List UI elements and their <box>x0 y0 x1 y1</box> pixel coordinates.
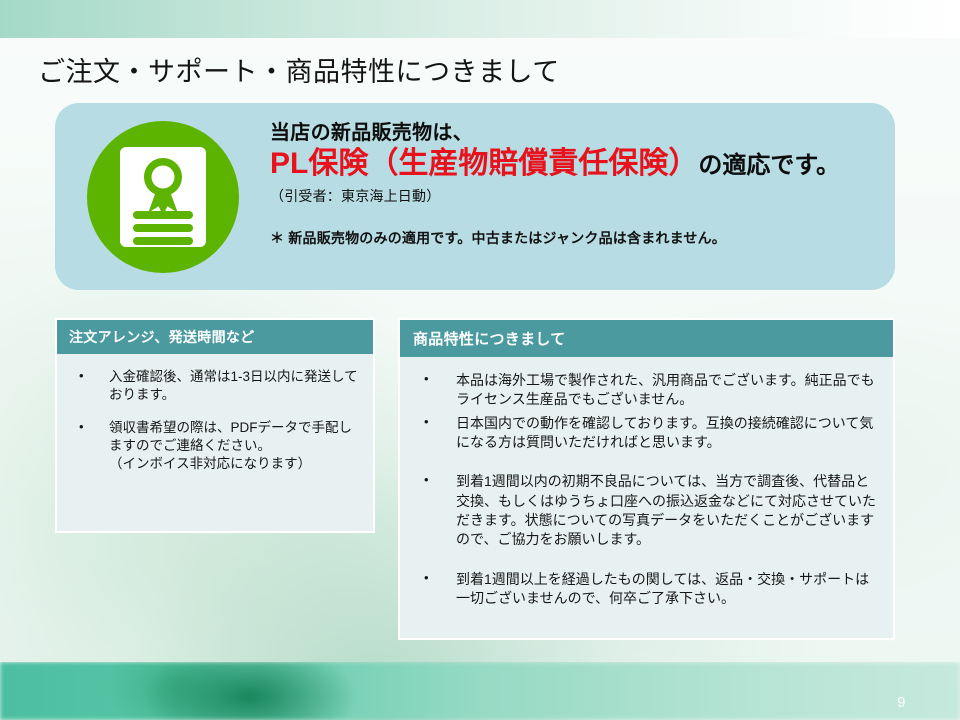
top-gradient-band <box>0 0 960 38</box>
bottom-band-image <box>0 662 960 720</box>
slide-canvas: ご注文・サポート・商品特性につきまして 当店の新品販売物は、 PL保険（生産物賠… <box>0 0 960 720</box>
product-characteristics-header: 商品特性につきまして <box>400 320 893 357</box>
insurance-banner: 当店の新品販売物は、 PL保険（生産物賠償責任保険）の適応です。 （引受者：東京… <box>55 103 895 290</box>
order-arrangement-body: 入金確認後、通常は1-3日以内に発送しております。 領収書希望の際は、PDFデー… <box>57 354 373 483</box>
banner-note: ＊ 新品販売物のみの適用です。中古またはジャンク品は含まれません。 <box>270 228 883 248</box>
list-item: 日本国内での動作を確認しております。互換の接続確認について気になる方は質問いただ… <box>410 414 883 453</box>
list-item: 領収書希望の際は、PDFデータで手配しますのでご連絡ください。 （インボイス非対… <box>67 419 363 473</box>
list-item: 本品は海外工場で製作された、汎用商品でございます。純正品でもライセンス生産品でも… <box>410 371 883 410</box>
pl-insurance-highlight: PL保険（生産物賠償責任保険） <box>270 147 698 180</box>
order-arrangement-box: 注文アレンジ、発送時間など 入金確認後、通常は1-3日以内に発送しております。 … <box>55 318 375 533</box>
product-characteristics-list: 本品は海外工場で製作された、汎用商品でございます。純正品でもライセンス生産品でも… <box>410 371 883 608</box>
list-item: 到着1週間以内の初期不良品については、当方で調査後、代替品と交換、もしくはゆうち… <box>410 472 883 549</box>
product-characteristics-box: 商品特性につきまして 本品は海外工場で製作された、汎用商品でございます。純正品で… <box>398 318 895 640</box>
page-number: 9 <box>897 695 906 710</box>
order-arrangement-list: 入金確認後、通常は1-3日以内に発送しております。 領収書希望の際は、PDFデー… <box>67 368 363 473</box>
banner-text-block: 当店の新品販売物は、 PL保険（生産物賠償責任保険）の適応です。 （引受者：東京… <box>270 121 883 248</box>
banner-underwriter: （引受者：東京海上日動） <box>270 186 883 206</box>
certificate-icon <box>87 121 239 273</box>
banner-line-2: PL保険（生産物賠償責任保険）の適応です。 <box>270 147 883 182</box>
order-arrangement-header: 注文アレンジ、発送時間など <box>57 320 373 354</box>
product-characteristics-body: 本品は海外工場で製作された、汎用商品でございます。純正品でもライセンス生産品でも… <box>400 357 893 618</box>
banner-line-2-suffix: の適応です。 <box>698 152 840 179</box>
banner-line-1: 当店の新品販売物は、 <box>270 121 883 146</box>
bottom-gradient-band: 9 <box>0 662 960 720</box>
list-item: 到着1週間以上を経過したもの関しては、返品・交換・サポートは一切ございませんので… <box>410 570 883 609</box>
list-item: 入金確認後、通常は1-3日以内に発送しております。 <box>67 368 363 404</box>
page-title: ご注文・サポート・商品特性につきまして <box>38 50 560 89</box>
